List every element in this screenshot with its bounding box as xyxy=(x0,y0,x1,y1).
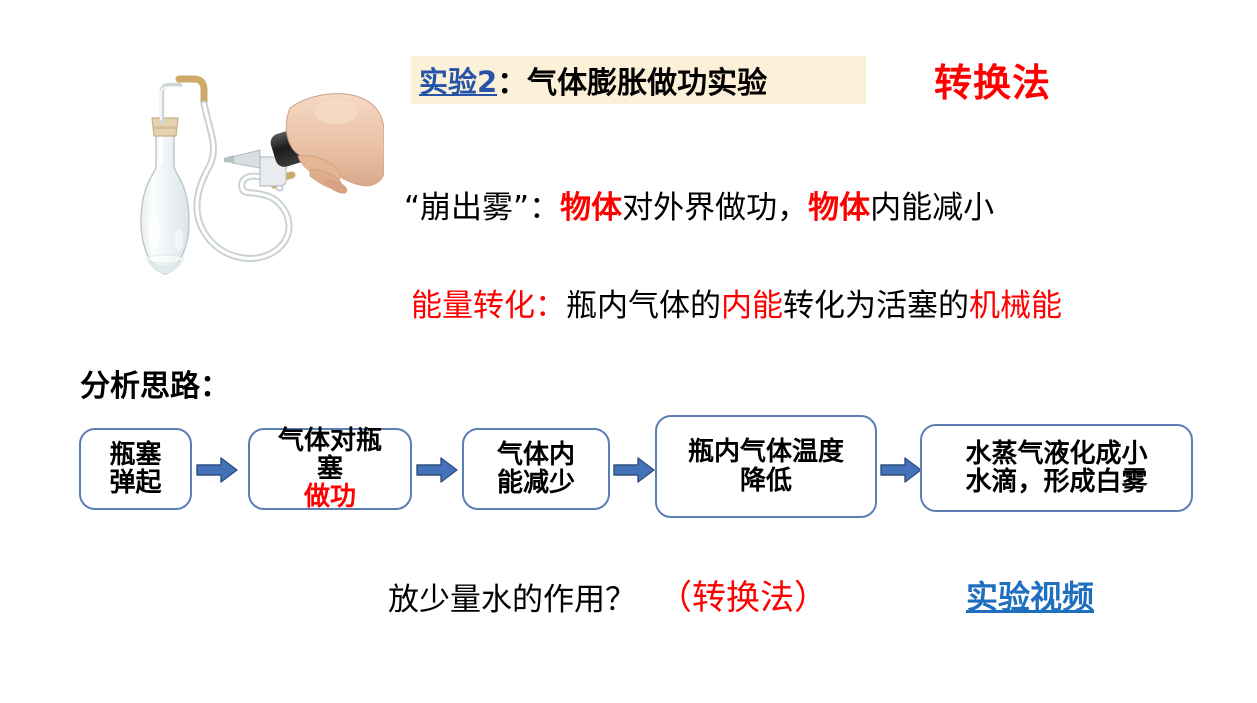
flow-box-3-line-2: 能减少 xyxy=(497,469,575,497)
flow-box-2: 气体对瓶 塞做功 xyxy=(248,428,412,510)
flow-box-5-line-1: 水蒸气液化成小 xyxy=(965,440,1147,468)
flow-arrow-2-icon xyxy=(416,456,458,488)
flow-box-1-line-1: 瓶塞 xyxy=(109,441,161,469)
flow-box-4-line-2: 降低 xyxy=(688,467,844,495)
flow-box-3: 气体内 能减少 xyxy=(462,428,610,510)
flow-box-4-line-1: 瓶内气体温度 xyxy=(688,438,844,466)
flow-box-4: 瓶内气体温度 降低 xyxy=(655,415,877,518)
flow-arrow-4-icon xyxy=(880,456,922,488)
flow-arrow-3-icon xyxy=(613,456,655,488)
experiment-video-link[interactable]: 实验视频 xyxy=(966,572,1094,618)
flow-box-2-line-1: 气体对瓶 xyxy=(278,427,382,455)
footer-method-answer: （转换法） xyxy=(658,570,828,619)
flow-box-5-line-2: 水滴，形成白雾 xyxy=(965,468,1147,496)
flow-arrow-1-icon xyxy=(196,456,238,488)
flow-box-5: 水蒸气液化成小 水滴，形成白雾 xyxy=(920,424,1193,512)
footer-question: 放少量水的作用？ xyxy=(388,574,636,619)
flow-box-3-line-1: 气体内 xyxy=(497,441,575,469)
flow-box-2-line-2: 塞做功 xyxy=(278,455,382,511)
flow-box-1: 瓶塞 弹起 xyxy=(79,428,192,510)
flow-box-1-line-2: 弹起 xyxy=(109,469,161,497)
